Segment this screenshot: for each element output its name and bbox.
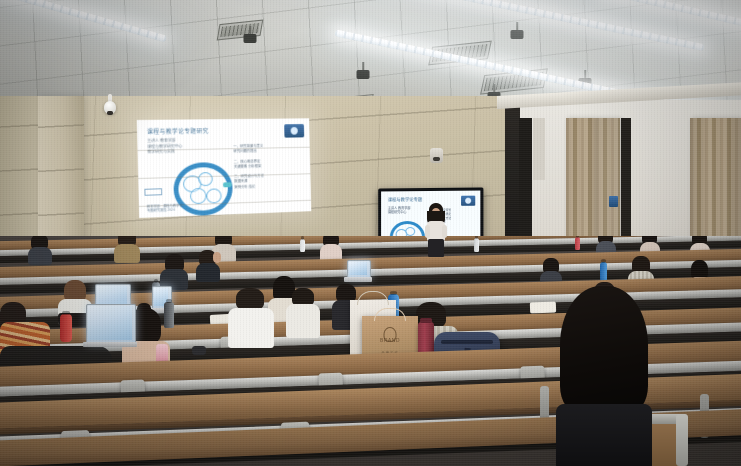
- laptop-front-left: [86, 304, 134, 342]
- student-dark-jacket: [160, 254, 188, 288]
- student-tan-shirt: [114, 236, 140, 262]
- red-bottle: [60, 314, 72, 342]
- student-back-row-1: [28, 236, 52, 264]
- computer-mouse: [192, 346, 206, 355]
- monitor-logo-badge: [461, 196, 475, 206]
- blue-water-bottle: [600, 262, 607, 281]
- slide-body-text: 一、研究背景与意义 研究问题的提出 二、核心概念界定 关键要素 分析框架 三、研…: [233, 143, 305, 190]
- slide-logo-badge: [284, 124, 304, 138]
- brand-text: BRAND: [362, 338, 418, 344]
- bottle-far-3: [575, 237, 580, 250]
- slide-institution-logo: [144, 188, 162, 196]
- wall-sign: [609, 196, 618, 207]
- lecture-hall-photo: 课程与教学论专题研究 主讲人 教育学部 课程与教学研究中心 教学研究与实践 一、…: [0, 0, 741, 466]
- student-raised-arm: [196, 250, 220, 280]
- student-white-tank: [228, 288, 274, 350]
- open-book-right: [530, 302, 556, 314]
- wall-patch: [533, 118, 545, 180]
- bag-handle: [374, 308, 406, 321]
- slide-title: 课程与教学论专题研究: [147, 126, 209, 136]
- student-white-tank-2: [286, 288, 320, 338]
- projected-slide: 课程与教学论专题研究 主讲人 教育学部 课程与教学研究中心 教学研究与实践 一、…: [137, 118, 311, 218]
- student-foreground-right: [556, 286, 652, 466]
- student-back-row-3: [320, 236, 342, 261]
- monitor-subtitle: 主讲人 教育学部 课程研究中心: [388, 206, 411, 215]
- bottle-far-2: [474, 238, 479, 252]
- security-camera-icon: [104, 94, 116, 116]
- presenter: [425, 203, 447, 257]
- seat-arm-right: [676, 414, 688, 466]
- seating-area: BRAND 品牌名称: [0, 236, 741, 466]
- monitor-title: 课程与教学论专题: [388, 197, 422, 203]
- tablet-mid-right: [347, 260, 369, 277]
- wall-speaker-icon: [430, 148, 443, 163]
- slide-subtitle: 主讲人 教育学部 课程与教学研究中心 教学研究与实践: [147, 137, 182, 154]
- bottle-far-1: [300, 239, 305, 252]
